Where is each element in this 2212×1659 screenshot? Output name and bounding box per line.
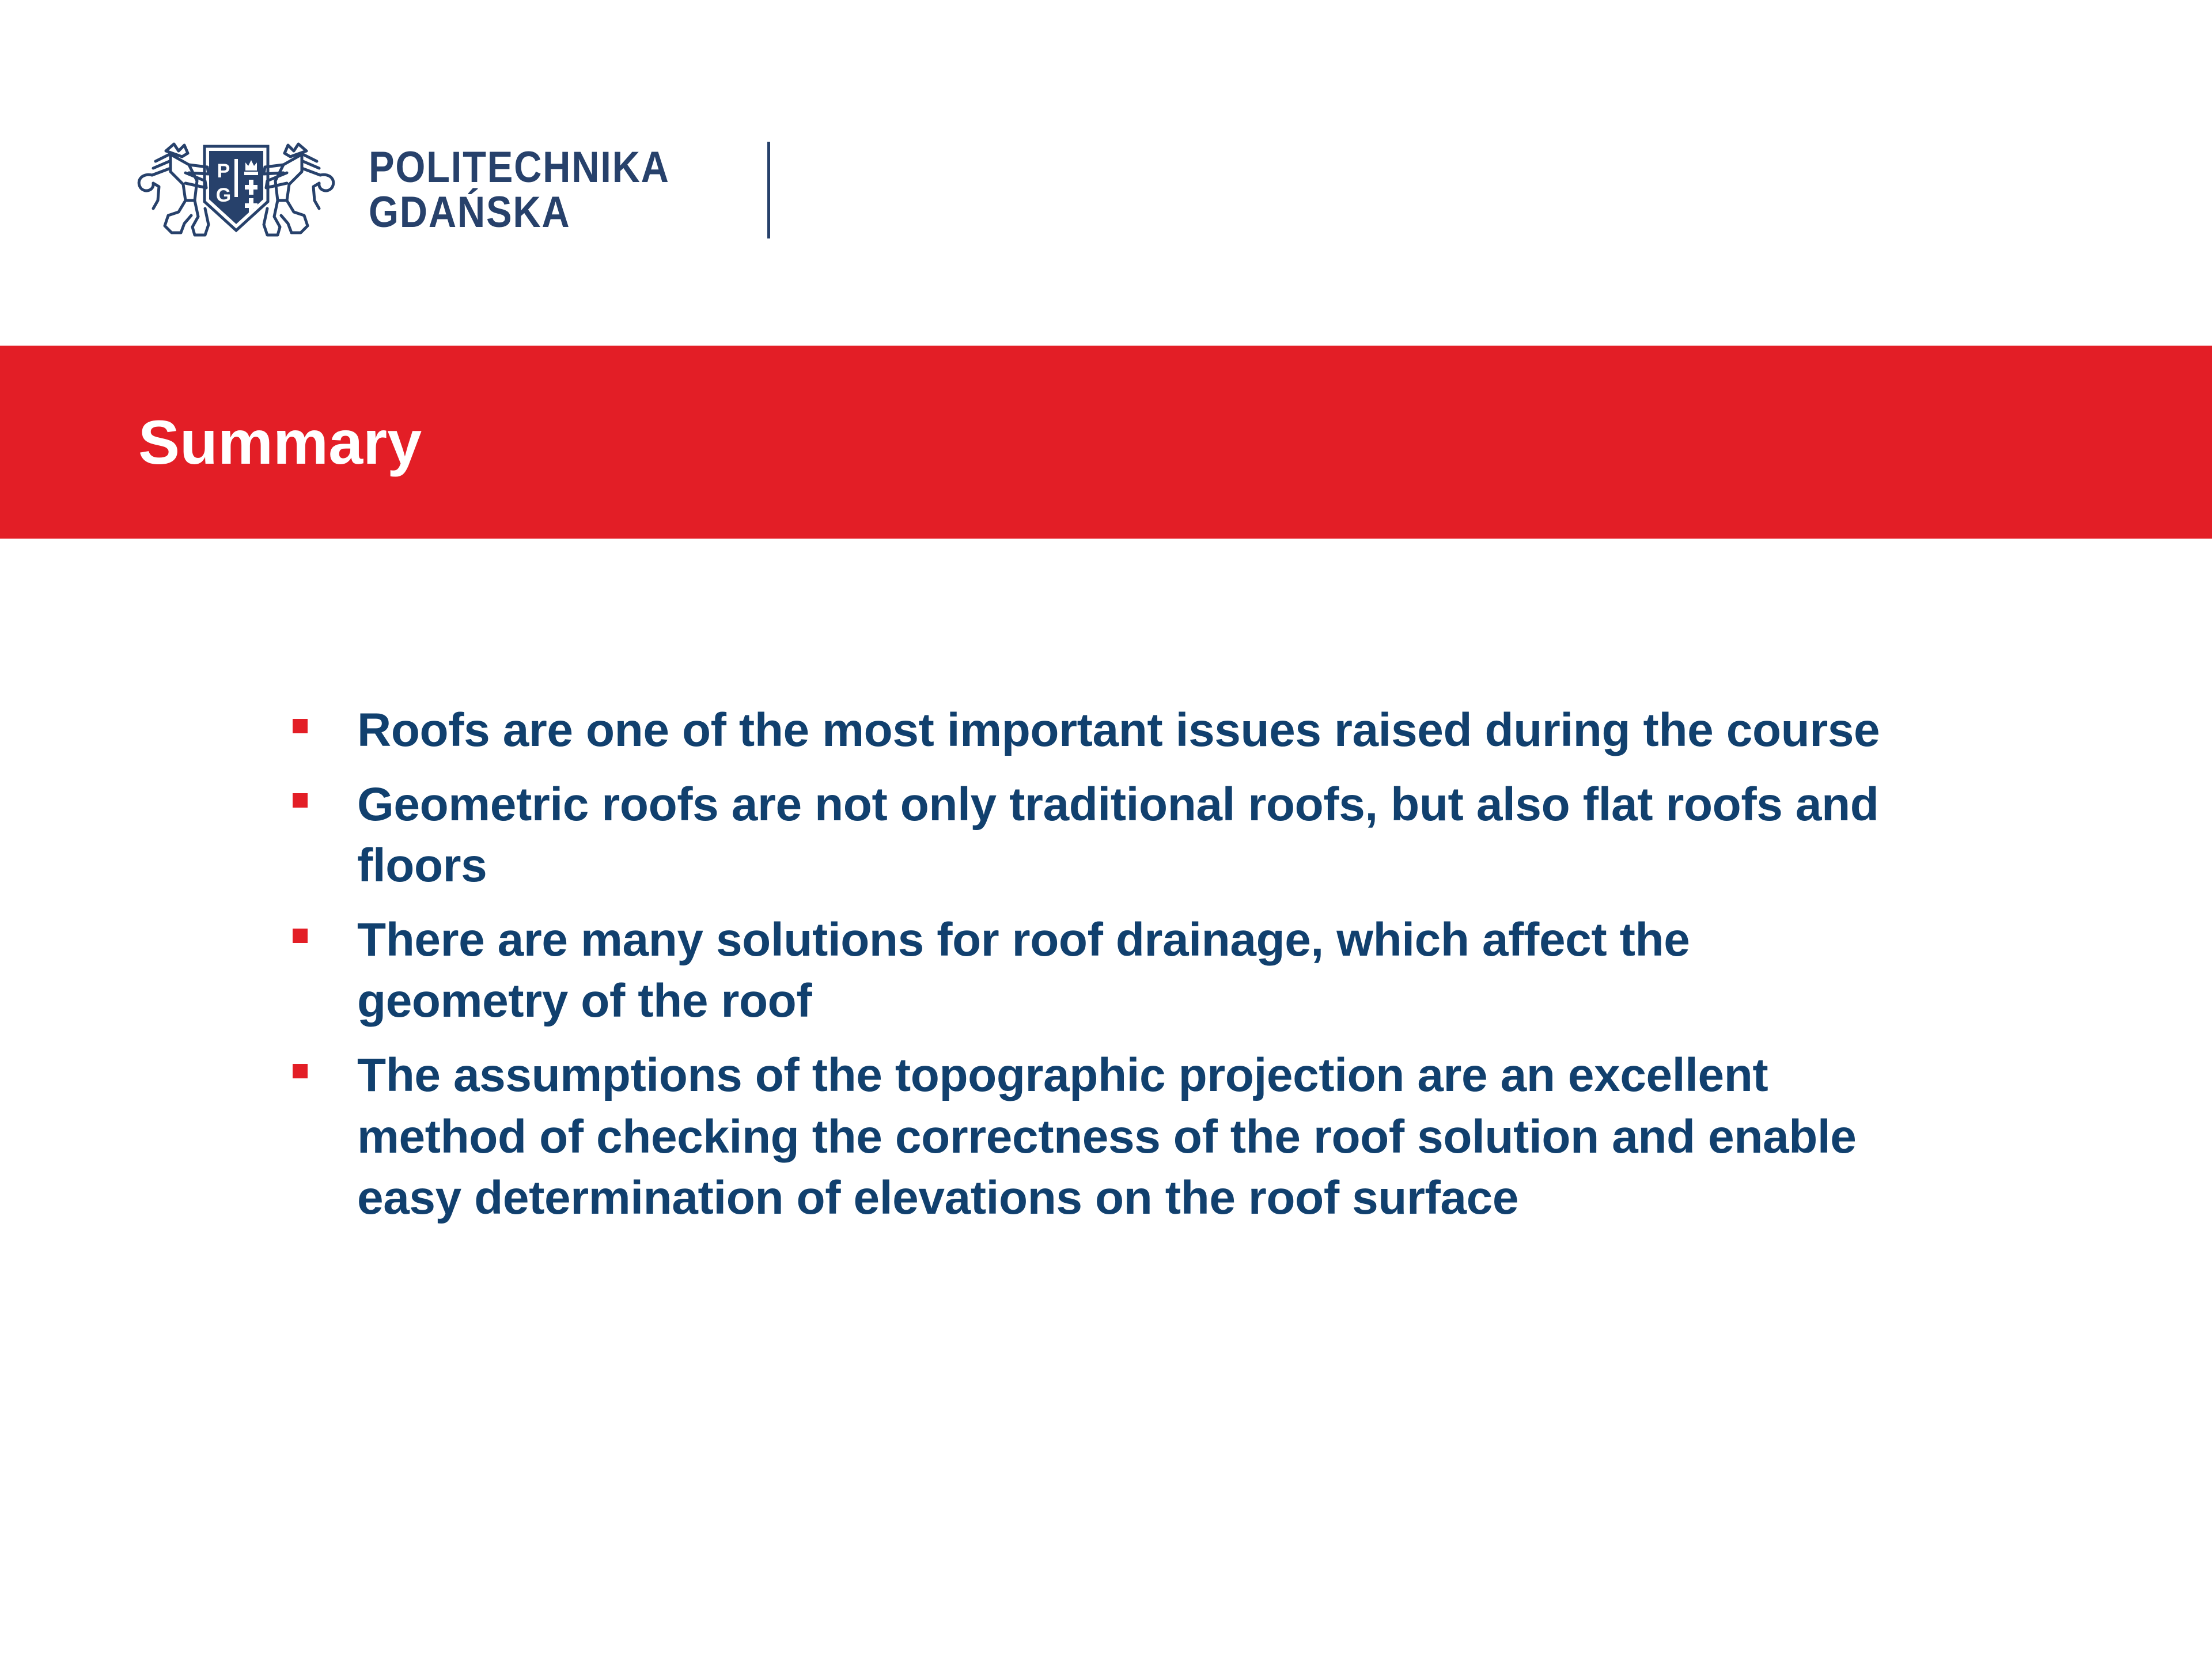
list-item: There are many solutions for roof draina…	[293, 910, 1883, 1032]
list-item-text: Roofs are one of the most important issu…	[357, 700, 1883, 762]
bullet-list: Roofs are one of the most important issu…	[293, 700, 1883, 1242]
square-bullet-icon	[293, 719, 308, 733]
logo-vertical-divider	[767, 142, 770, 238]
list-item: Geometric roofs are not only traditional…	[293, 774, 1883, 897]
crest-letter-p: P	[217, 160, 230, 182]
institution-wordmark: POLITECHNIKA GDAŃSKA	[369, 145, 711, 234]
square-bullet-icon	[293, 793, 308, 808]
page-title: Summary	[138, 406, 422, 478]
lion-left-icon	[139, 144, 209, 235]
list-item: The assumptions of the topographic proje…	[293, 1045, 1883, 1229]
list-item-text: Geometric roofs are not only traditional…	[357, 774, 1883, 897]
list-item-text: The assumptions of the topographic proje…	[357, 1045, 1883, 1229]
crest-letter-g: G	[216, 184, 231, 206]
title-banner: Summary	[0, 346, 2212, 539]
square-bullet-icon	[293, 929, 308, 943]
gdansk-tech-coat-of-arms-icon: P G	[121, 131, 351, 249]
lion-right-icon	[264, 144, 334, 235]
slide-canvas: P G	[0, 0, 2212, 1659]
shield-icon: P G	[204, 146, 268, 230]
list-item: Roofs are one of the most important issu…	[293, 700, 1883, 762]
brand-logo: P G	[121, 130, 770, 251]
institution-name-line-2: GDAŃSKA	[369, 190, 670, 235]
institution-name-line-1: POLITECHNIKA	[369, 145, 670, 190]
list-item-text: There are many solutions for roof draina…	[357, 910, 1883, 1032]
square-bullet-icon	[293, 1064, 308, 1078]
